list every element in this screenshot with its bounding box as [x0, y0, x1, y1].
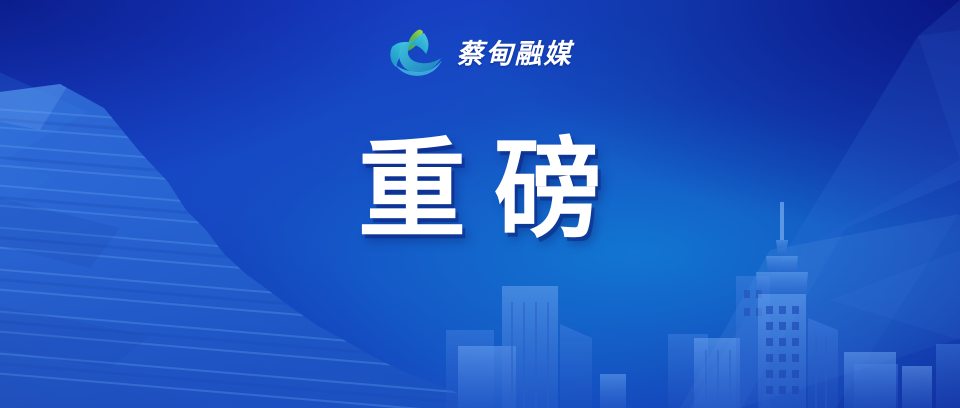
brand-lockup: 蔡甸融媒: [0, 28, 960, 80]
promo-banner: 蔡甸融媒 重磅: [0, 0, 960, 408]
headline-text: 重磅: [330, 132, 630, 251]
leaf-swoosh-logo-icon: [388, 28, 444, 80]
headline-container: 重磅: [0, 132, 960, 251]
brand-name: 蔡甸融媒: [457, 41, 573, 68]
